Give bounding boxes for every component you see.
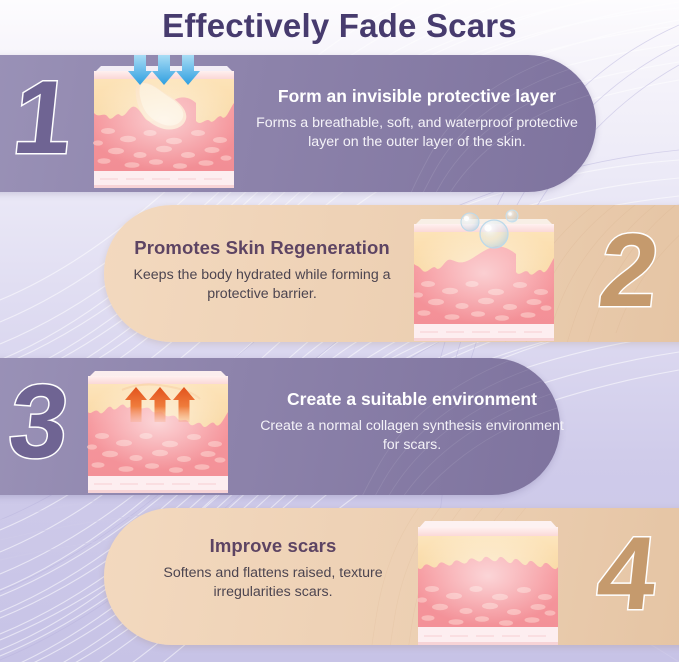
step-3-heading: Create a suitable environment (252, 389, 572, 410)
step-3-text: Create a suitable environment Create a n… (252, 389, 572, 454)
step-number-4: 4 (593, 522, 662, 626)
page-title: Effectively Fade Scars (0, 0, 679, 52)
step-2-heading: Promotes Skin Regeneration (112, 237, 412, 259)
skin-diagram-hydration-bubbles (408, 208, 560, 346)
skin-diagram-protective-layer (88, 55, 240, 193)
down-arrow-icon (128, 55, 200, 85)
step-4-body: Softens and flattens raised, texture irr… (128, 564, 418, 601)
step-number-1: 1 (9, 66, 78, 170)
step-number-3: 3 (5, 370, 74, 474)
step-1-text: Form an invisible protective layer Forms… (252, 86, 582, 151)
skin-diagram-collagen-arrows (82, 360, 234, 498)
step-2-body: Keeps the body hydrated while forming a … (112, 266, 412, 303)
step-2-text: Promotes Skin Regeneration Keeps the bod… (112, 237, 412, 304)
step-4-text: Improve scars Softens and flattens raise… (128, 535, 418, 602)
skin-diagram-smooth-skin (412, 511, 564, 649)
step-3-body: Create a normal collagen synthesis envir… (252, 417, 572, 454)
step-1-heading: Form an invisible protective layer (252, 86, 582, 107)
step-number-2: 2 (595, 219, 664, 323)
up-arrow-icon (125, 387, 195, 422)
step-4-heading: Improve scars (128, 535, 418, 557)
step-1-body: Forms a breathable, soft, and waterproof… (252, 114, 582, 151)
